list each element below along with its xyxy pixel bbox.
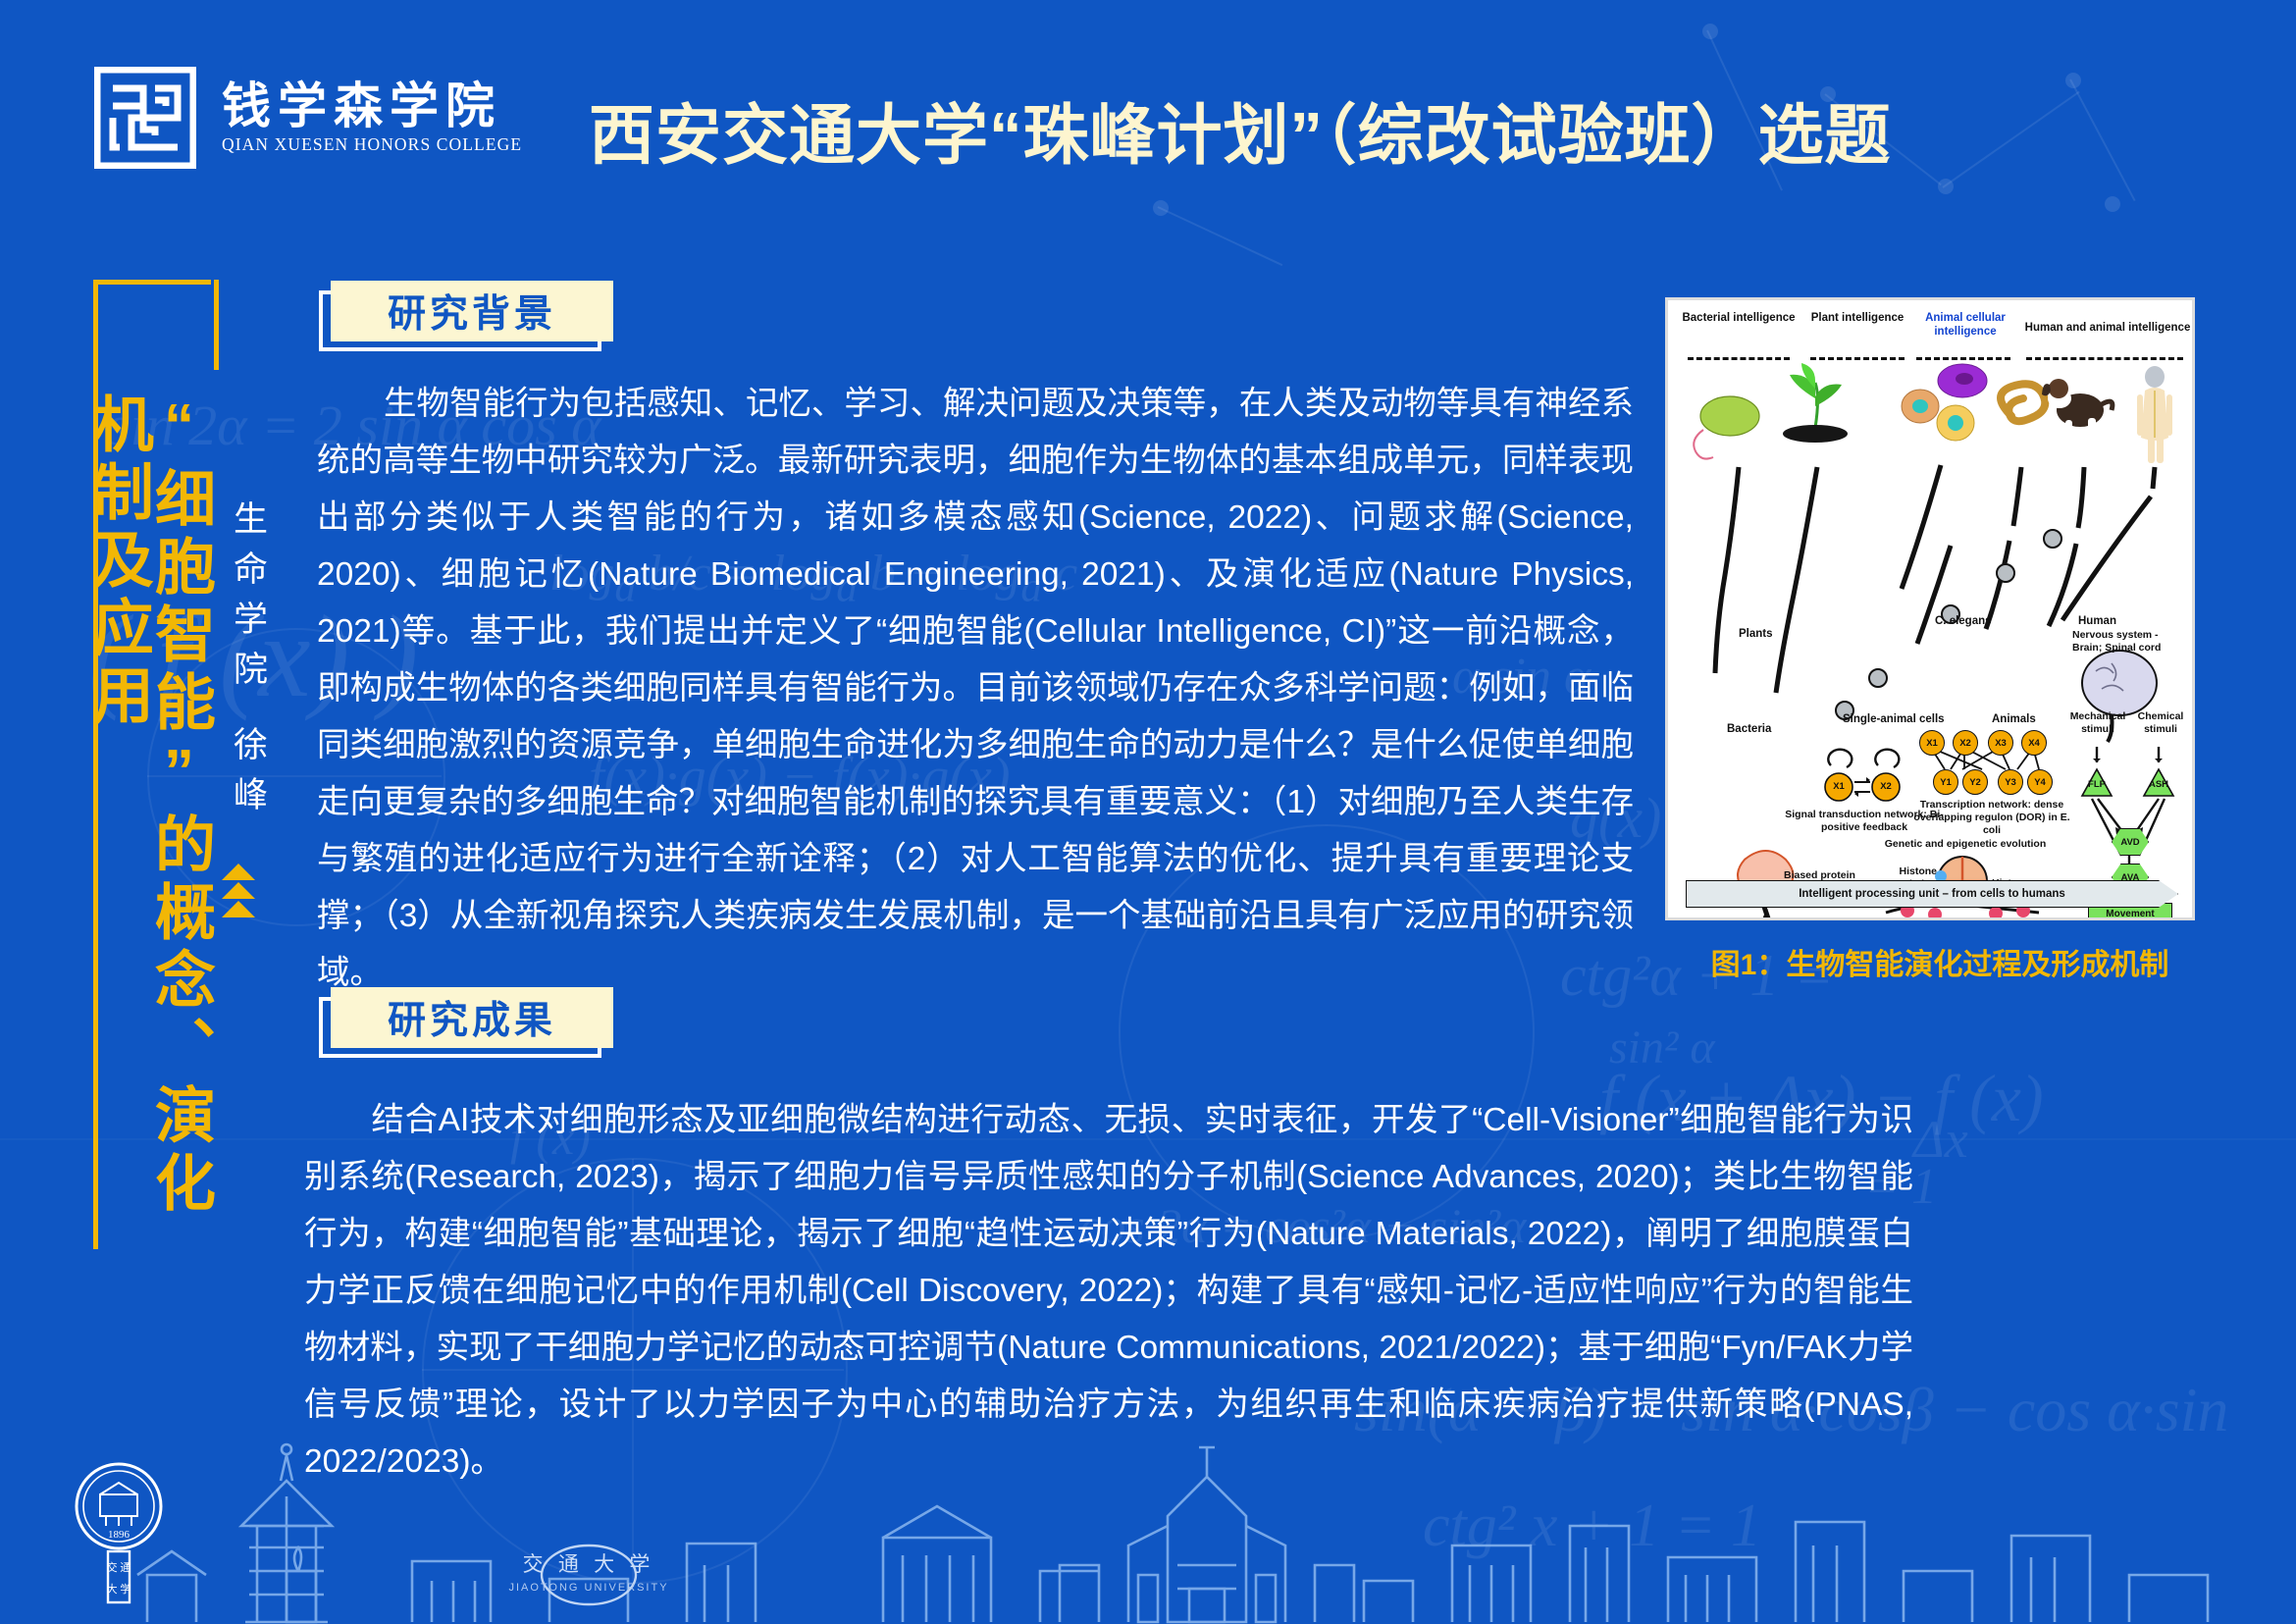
svg-text:1896: 1896 [108, 1529, 130, 1541]
node-x1-signal: X1 [1828, 777, 1850, 797]
section-banner-background: 研究背景 [331, 281, 613, 341]
svg-text:大 学: 大 学 [107, 1582, 131, 1596]
svg-text:交 通 大 学: 交 通 大 学 [523, 1552, 655, 1576]
node-x4-transcription: X4 [2021, 730, 2047, 756]
figure-1-image: Bacterial intelligence Plant intelligenc… [1665, 297, 2195, 920]
figure-footer-bar: Intelligent processing unit – from cells… [1686, 880, 2178, 908]
banner-plate: 研究成果 [331, 987, 613, 1048]
logo-chinese-name: 钱学森学院 [222, 80, 522, 132]
banner-plate: 研究背景 [331, 281, 613, 341]
figure-tree-label-4: Animals [1992, 712, 2036, 726]
poster-header: 钱学森学院 QIAN XUESEN HONORS COLLEGE 西安交通大学“… [0, 0, 2296, 211]
neuron-ash: ASH [2144, 779, 2173, 790]
node-x1-transcription: X1 [1919, 730, 1945, 756]
banner-label-results: 研究成果 [388, 990, 556, 1045]
figure-stimulus-chemical: Chemical stimuli [2127, 710, 2194, 736]
background-paragraph: 生物智能行为包括感知、记忆、学习、解决问题及决策等，在人类及动物等具有神经系统的… [317, 376, 1634, 1002]
node-x2-signal: X2 [1875, 777, 1897, 797]
poster-canvas: sin 2α = 2 sin α cos α loga b/c = loga b… [0, 0, 2296, 1624]
node-y2-transcription: Y2 [1962, 769, 1988, 795]
node-x3-transcription: X3 [1988, 730, 2013, 756]
figure-tree-label-0: Bacteria [1727, 722, 1771, 736]
node-y4-transcription: Y4 [2027, 769, 2053, 795]
figure-tree-label-1: Plants [1739, 627, 1773, 641]
results-paragraph: 结合AI技术对细胞形态及亚细胞微结构进行动态、无损、实时表征，开发了“Cell-… [304, 1092, 1913, 1491]
figure-tree-label-3: C. elegans [1935, 614, 1992, 628]
section-banner-results: 研究成果 [331, 987, 613, 1048]
college-name-vertical: 生命学院 [218, 500, 273, 701]
figure-nervous-system-label: Nervous system - Brain; Spinal cord [2072, 629, 2182, 655]
figure-1-caption: 图1：生物智能演化过程及形成机制 [1665, 940, 2215, 983]
figure-tree-label-2: Single-animal cells [1843, 712, 1945, 726]
band-tick [214, 280, 219, 370]
project-vertical-title: “细胞智能”的概念、演化机制及应用 [116, 393, 210, 1236]
svg-text:交 通: 交 通 [107, 1560, 131, 1574]
figure-epigenetics-caption: Genetic and epigenetic evolution [1872, 838, 2059, 851]
svg-text:JIAOTONG UNIVERSITY: JIAOTONG UNIVERSITY [508, 1582, 668, 1594]
node-y1-transcription: Y1 [1933, 769, 1958, 795]
node-y3-transcription: Y3 [1998, 769, 2023, 795]
logo-english-name: QIAN XUESEN HONORS COLLEGE [222, 134, 522, 155]
page-title: 西安交通大学“珠峰计划”（综改试验班）选题 [589, 82, 2257, 178]
figure-stimulus-mechanical: Mechanical stimuli [2064, 710, 2131, 736]
node-x2-transcription: X2 [1953, 730, 1978, 756]
figure-tree-label-5: Human [2078, 614, 2116, 628]
banner-label-background: 研究背景 [388, 284, 556, 339]
college-logo: 钱学森学院 QIAN XUESEN HONORS COLLEGE [94, 67, 522, 169]
university-seal-icon: 1896 交 通 大 学 [61, 1459, 177, 1606]
advisor-name-vertical: 徐峰 [218, 726, 273, 826]
qian-xuesen-seal-icon [94, 67, 196, 169]
figure-signal-transduction-caption: Signal transduction network: Bi-positive… [1776, 809, 1953, 834]
chevron-arrows-icon [222, 864, 255, 917]
neuron-flp: FLP [2082, 779, 2112, 790]
